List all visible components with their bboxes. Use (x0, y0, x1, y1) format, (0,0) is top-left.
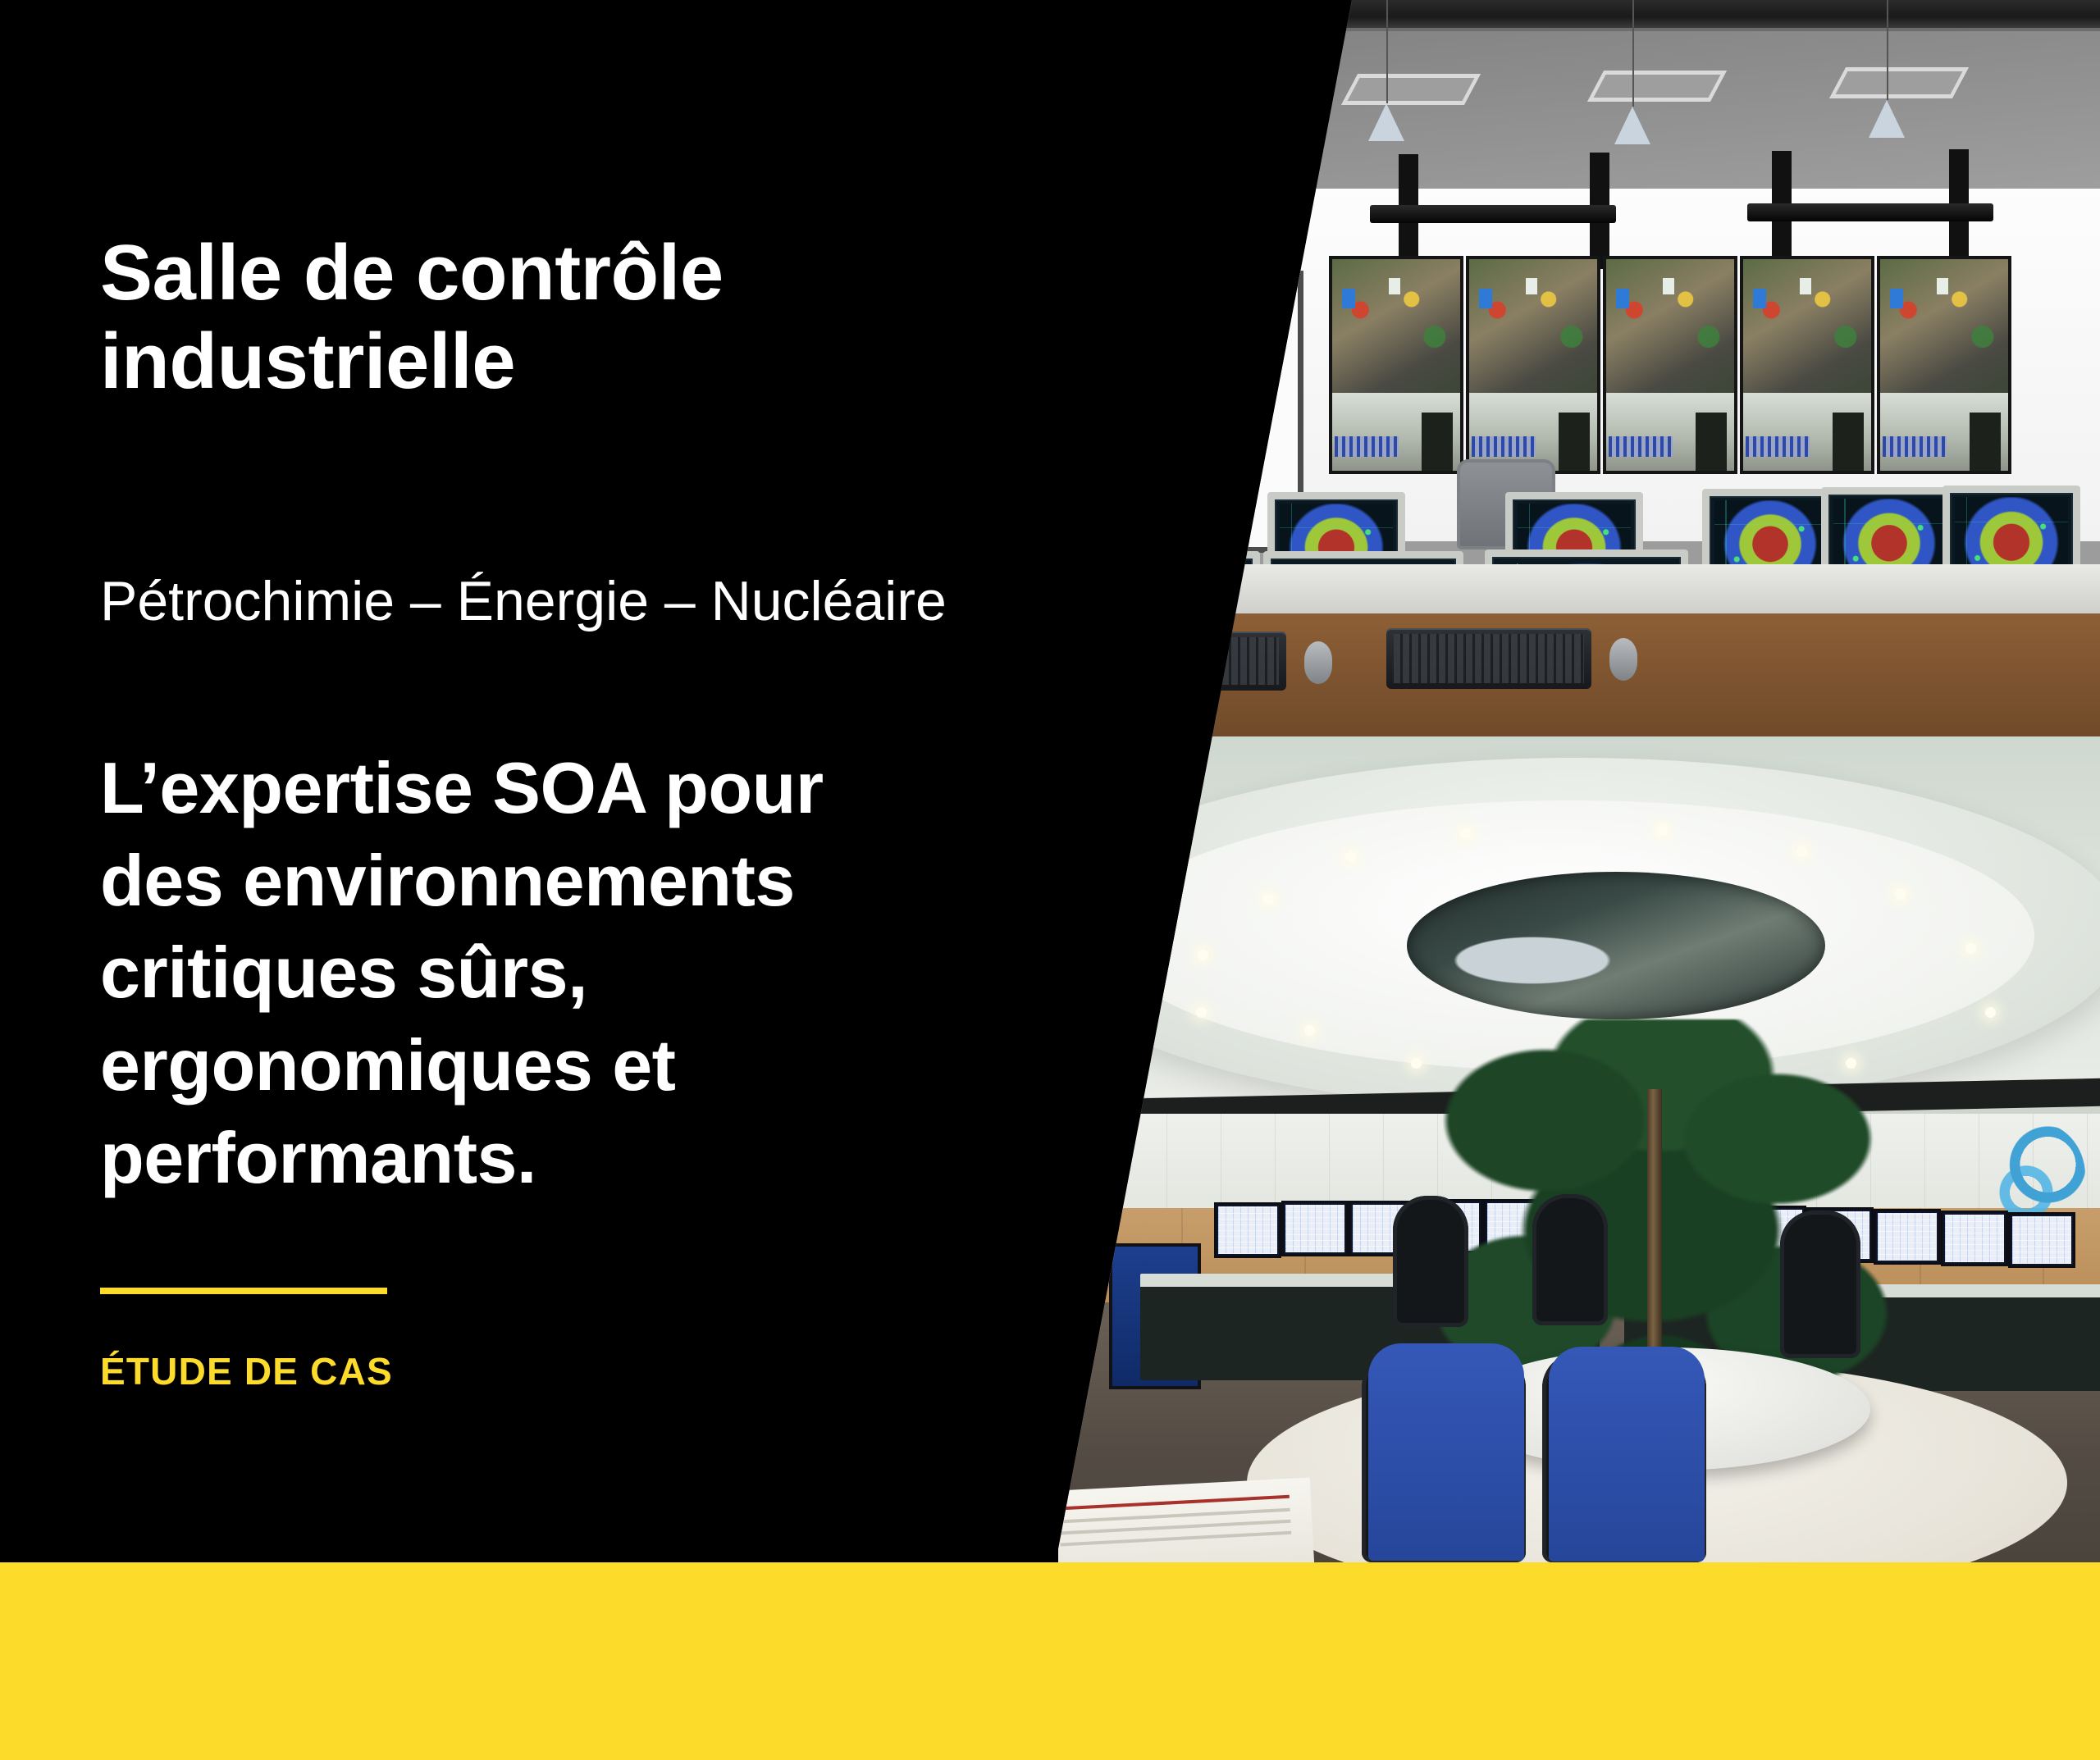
video-wall-screen (1466, 256, 1600, 474)
video-wall-screen (1329, 256, 1463, 474)
value-proposition-line-3: critiques sûrs, (100, 932, 587, 1013)
page-title-line-2: industrielle (100, 317, 515, 405)
control-room-3d-render-image (1058, 0, 2100, 736)
operator-chair (1532, 1194, 1608, 1325)
operator-monitor (1281, 1201, 1349, 1256)
value-proposition-line-4: ergonomiques et (100, 1024, 675, 1106)
value-proposition-line-2: des environnements (100, 840, 795, 921)
video-wall-screen (1877, 256, 2011, 474)
pendant-lamp (1368, 103, 1404, 141)
ceiling-spotlight (1196, 1007, 1207, 1018)
ceiling-spotlight (1263, 894, 1274, 905)
ceiling-spotlight (1895, 889, 1906, 900)
operator-monitor (1941, 1211, 2008, 1266)
case-study-card: Salle de contrôle industrielle Pétrochim… (0, 0, 2100, 1760)
operator-monitor (2008, 1212, 2075, 1268)
pendant-lamp (1869, 100, 1905, 138)
text-panel: Salle de contrôle industrielle Pétrochim… (0, 0, 1066, 1562)
render-side-wall (1058, 113, 1173, 736)
keyboard (1098, 632, 1286, 691)
operator-chair (1780, 1211, 1860, 1358)
footer-bar: S O A (0, 1562, 2100, 1760)
page-title-line-1: Salle de contrôle (100, 229, 724, 317)
video-wall-screen-top (1880, 259, 2008, 393)
ceiling-spotlight (1345, 851, 1356, 862)
video-wall-screen-top (1469, 259, 1597, 393)
ceiling-troffer-light (1587, 71, 1727, 102)
video-wall-screen (1603, 256, 1737, 474)
ceiling-rail (1370, 205, 1616, 223)
value-proposition-line-1: L’expertise SOA pour (100, 747, 824, 828)
ceiling-troffer-light (1341, 74, 1481, 105)
kicker-label: ÉTUDE DE CAS (100, 1349, 393, 1393)
video-wall-screen (1740, 256, 1874, 474)
control-room-photo-image (1058, 736, 2100, 1562)
keyboard (1386, 628, 1591, 689)
video-wall-screen-bottom (1332, 393, 1460, 471)
video-wall-screen-top (1332, 259, 1460, 393)
ceiling-spotlight (1965, 943, 1976, 954)
ceiling-spotlight (1198, 950, 1208, 960)
video-wall-screen-top (1606, 259, 1734, 393)
video-wall-screen-top (1743, 259, 1871, 393)
ceiling-troffer-light (1829, 67, 1969, 98)
ceiling-spotlight (1657, 825, 1668, 836)
ceiling-aerial-photo-oval (1407, 872, 1825, 1019)
sector-subtitle: Pétrochimie – Énergie – Nucléaire (100, 568, 961, 636)
video-wall-screen-bottom (1880, 393, 2008, 471)
video-wall-screen-bottom (1743, 393, 1871, 471)
value-proposition-line-5: performants. (100, 1117, 536, 1198)
pendant-wire (1632, 0, 1634, 107)
blue-jacket-on-chair-right (1549, 1347, 1705, 1562)
ceiling-rail (1747, 203, 1993, 221)
pendant-wire (1887, 0, 1888, 100)
desk-documents (1058, 1477, 1315, 1562)
render-console-edge (1058, 564, 2100, 613)
ceiling-spotlight (1460, 828, 1471, 839)
ceiling-spotlight (1796, 846, 1807, 857)
video-wall (1329, 256, 2011, 474)
ceiling-spotlight (1304, 1025, 1315, 1036)
value-proposition: L’expertise SOA pour des environnements … (100, 742, 970, 1204)
mouse (1304, 641, 1332, 684)
accent-underline (100, 1288, 387, 1294)
video-wall-screen-bottom (1606, 393, 1734, 471)
operator-chair (1393, 1196, 1468, 1327)
pendant-wire (1386, 0, 1388, 103)
page-title: Salle de contrôle industrielle (100, 229, 879, 405)
operator-monitor (1214, 1202, 1281, 1258)
pendant-lamp (1614, 107, 1650, 144)
mouse (1609, 638, 1637, 681)
blue-jacket-on-chair-left (1368, 1343, 1524, 1561)
ceiling-spotlight (1985, 1007, 1996, 1018)
